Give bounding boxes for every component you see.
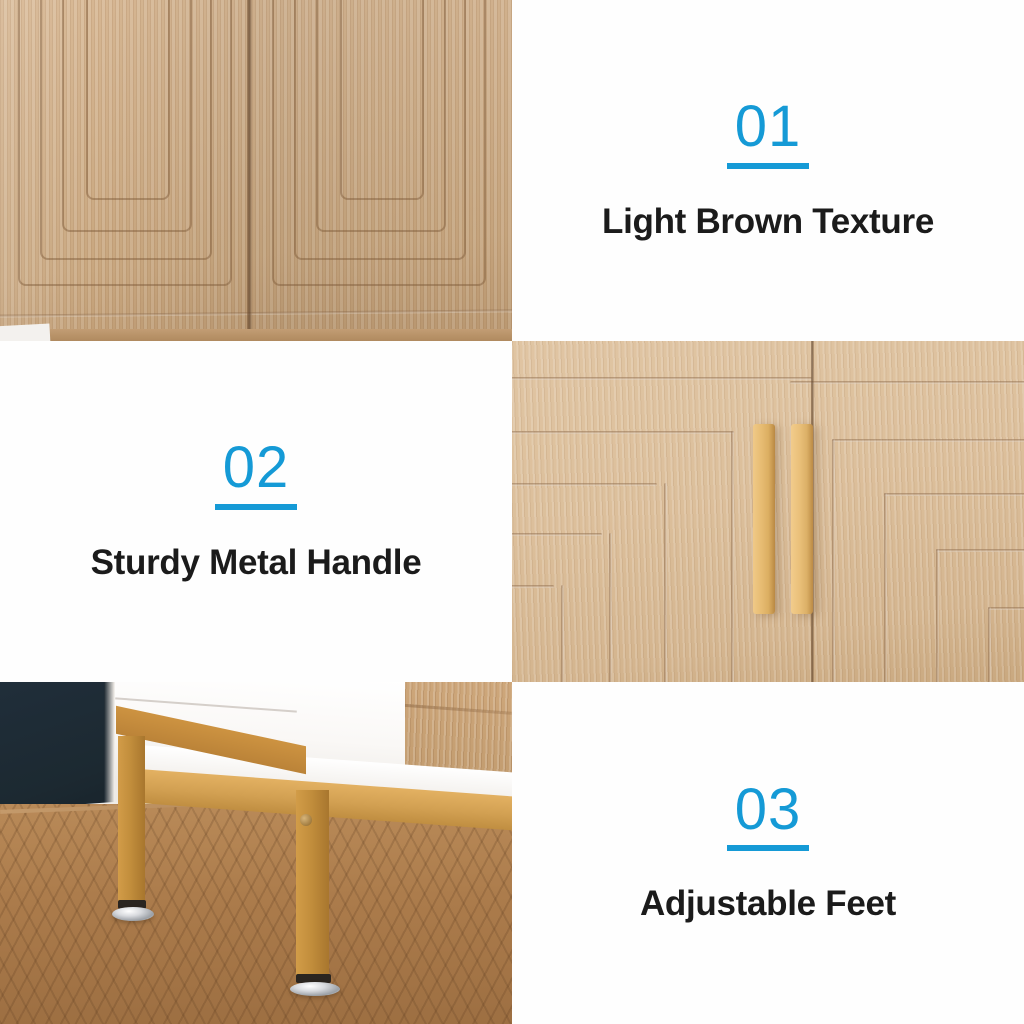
handle-door-step-line-right-3 bbox=[884, 493, 1024, 496]
handle-door-step-vert-left-4 bbox=[609, 533, 612, 682]
handle-door-step-line-left-1 bbox=[512, 377, 812, 380]
feature-card-01: 01 Light Brown Texture bbox=[512, 0, 1024, 341]
handle-door-step-vert-right-4 bbox=[936, 549, 939, 682]
handle-door-step-vert-left-5 bbox=[561, 585, 564, 682]
handle-door-step-vert-right-2 bbox=[832, 439, 835, 682]
feature-number-01: 01 bbox=[735, 99, 802, 156]
handle-door-step-vert-right-5 bbox=[988, 607, 991, 682]
navy-wall-edge bbox=[104, 682, 114, 818]
door-bottom-rail-groove bbox=[0, 309, 512, 317]
feature-card-02: 02 Sturdy Metal Handle bbox=[0, 341, 512, 682]
handle-door-step-line-left-4 bbox=[512, 533, 602, 536]
cabinet-base-strip bbox=[0, 329, 512, 341]
door-groove-frame-core-left bbox=[86, 0, 170, 200]
navy-accent-wall bbox=[0, 682, 112, 818]
door-center-seam bbox=[247, 0, 252, 341]
handle-door-step-vert-right-3 bbox=[884, 493, 887, 682]
handle-door-step-line-right-4 bbox=[936, 549, 1024, 552]
feature-number-block-03: 03 bbox=[727, 782, 809, 852]
cabinet-doors-texture-photo bbox=[0, 0, 512, 341]
feature-title-03: Adjustable Feet bbox=[640, 884, 896, 924]
feature-infographic-board: 01 Light Brown Texture 02 Sturdy Metal H… bbox=[0, 0, 1024, 1024]
herringbone-parquet-floor bbox=[0, 804, 512, 1024]
adjustable-foot-rear bbox=[112, 907, 154, 921]
feature-number-block-02: 02 bbox=[215, 440, 297, 510]
feature-number-03: 03 bbox=[735, 782, 802, 839]
feature-number-block-01: 01 bbox=[727, 99, 809, 169]
handle-door-step-line-right-5 bbox=[988, 607, 1024, 610]
adjustable-foot-front bbox=[290, 982, 340, 996]
handle-door-step-line-left-2 bbox=[512, 431, 734, 434]
feature-card-03: 03 Adjustable Feet bbox=[512, 682, 1024, 1024]
feature-number-02: 02 bbox=[223, 440, 290, 497]
floor-highlight-corner bbox=[0, 324, 51, 341]
door-groove-frame-core-right bbox=[340, 0, 424, 200]
metal-handle-bar-right[interactable] bbox=[791, 424, 813, 614]
feature-title-02: Sturdy Metal Handle bbox=[91, 543, 422, 583]
metal-handle-bar-left[interactable] bbox=[753, 424, 775, 614]
feature-number-underline-02 bbox=[215, 504, 297, 510]
gold-leg-rear bbox=[118, 736, 145, 904]
leg-screw-head bbox=[300, 814, 312, 826]
handle-door-step-vert-left-2 bbox=[731, 431, 734, 682]
handle-door-step-line-left-3 bbox=[512, 483, 657, 486]
feature-number-underline-01 bbox=[727, 163, 809, 169]
handle-door-step-line-right-2 bbox=[832, 439, 1024, 442]
metal-handle-photo bbox=[512, 341, 1024, 682]
handle-door-step-vert-left-3 bbox=[664, 483, 667, 682]
feature-number-underline-03 bbox=[727, 845, 809, 851]
handle-door-step-line-right-1 bbox=[790, 381, 1024, 384]
adjustable-feet-photo bbox=[0, 682, 512, 1024]
feature-title-01: Light Brown Texture bbox=[602, 202, 934, 242]
handle-door-step-line-left-5 bbox=[512, 585, 554, 588]
